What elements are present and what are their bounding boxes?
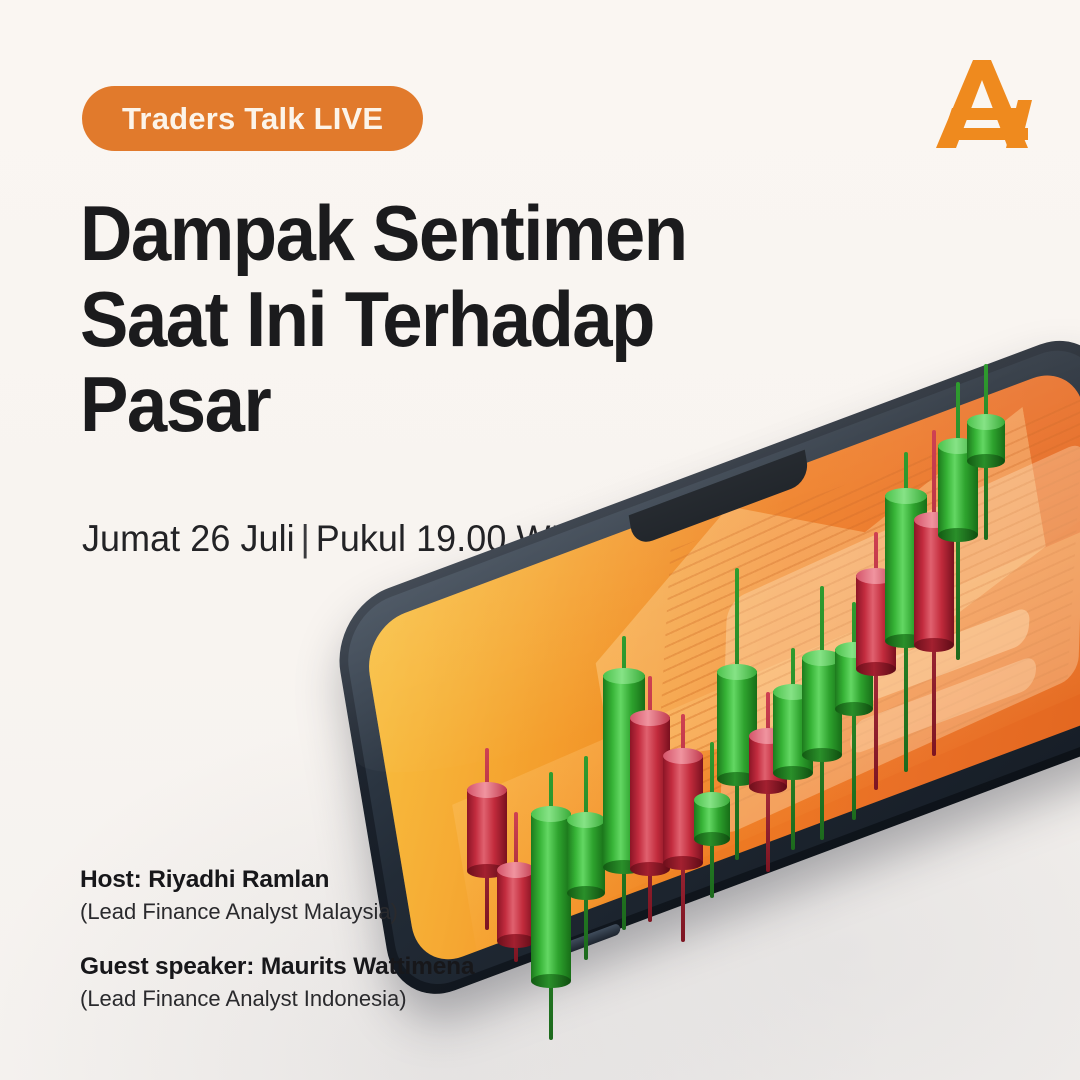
- stylized-a-logo: [928, 52, 1044, 156]
- promo-poster: Traders Talk LIVE Dampak Sentimen Saat I…: [0, 0, 1080, 1080]
- credit-host: Host: Riyadhi Ramlan (Lead Finance Analy…: [80, 866, 474, 925]
- page-title: Dampak Sentimen Saat Ini Terhadap Pasar: [80, 196, 768, 453]
- credit-guest: Guest speaker: Maurits Wattimena (Lead F…: [80, 953, 474, 1012]
- page-title-line-2: Saat Ini Terhadap: [80, 282, 768, 358]
- live-badge: Traders Talk LIVE: [82, 86, 423, 151]
- schedule-date: Jumat 26 Juli: [82, 518, 295, 559]
- credit-guest-name: Guest speaker: Maurits Wattimena: [80, 953, 474, 981]
- credit-host-name: Host: Riyadhi Ramlan: [80, 866, 474, 894]
- schedule-separator: |: [295, 518, 316, 559]
- credit-guest-role: (Lead Finance Analyst Indonesia): [80, 986, 474, 1012]
- page-title-line-1: Dampak Sentimen: [80, 196, 768, 272]
- speaker-credits: Host: Riyadhi Ramlan (Lead Finance Analy…: [80, 866, 474, 1040]
- live-badge-label: Traders Talk LIVE: [122, 101, 383, 137]
- credit-host-role: (Lead Finance Analyst Malaysia): [80, 899, 474, 925]
- page-title-line-3: Pasar: [80, 367, 768, 443]
